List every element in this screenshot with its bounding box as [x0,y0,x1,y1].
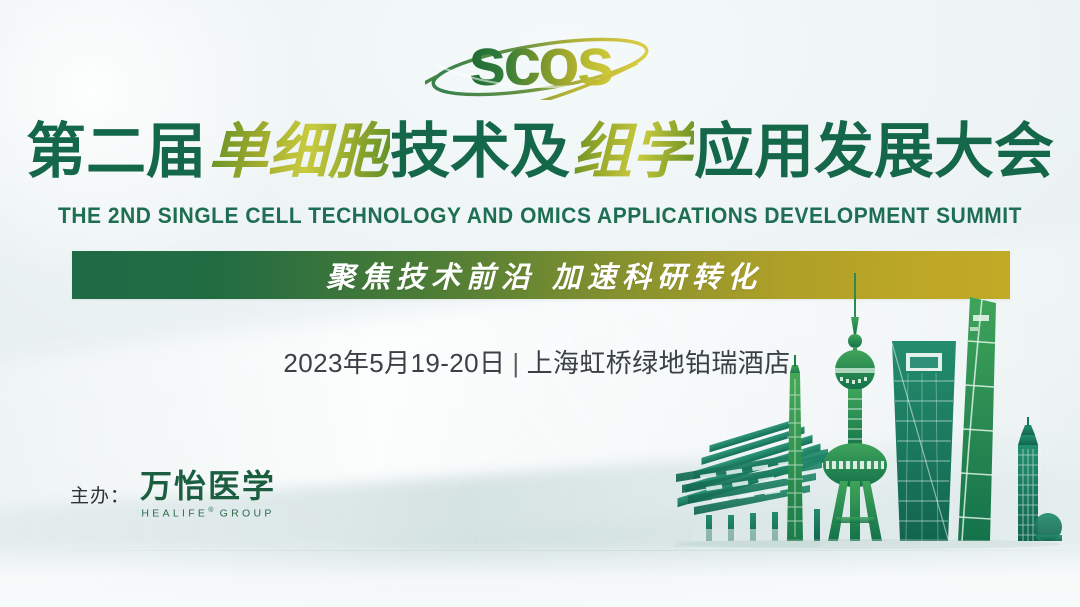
page-title: 第二届单细胞技术及组学应用发展大会 [0,122,1080,182]
title-segment-4-brush: 组学 [570,117,694,187]
shanghai-skyline-illustration [670,269,1070,569]
organizer-name-en-suffix: GROUP [220,507,275,519]
landmark-shanghai-tower [958,297,996,541]
landmark-jin-mao-tower [787,355,803,541]
brand-logo: scos [0,22,1080,105]
page-subtitle-english: THE 2ND SINGLE CELL TECHNOLOGY AND OMICS… [38,203,1042,229]
landmark-oriental-pearl-tower [823,273,887,541]
event-meta: 2023年5月19-20日|上海虹桥绿地铂瑞酒店 [0,343,1080,380]
organizer-logo: 万怡医学 HEALIFE® GROUP [140,470,276,519]
landmark-art-deco-tower [1018,417,1062,541]
landmark-china-art-museum [672,410,828,547]
title-segment-2-brush: 单细胞 [206,117,390,187]
event-date: 2023年5月19-20日 [283,348,505,378]
organizer-label: 主办： [70,481,130,508]
event-venue: 上海虹桥绿地铂瑞酒店 [527,348,791,378]
organizer-name-en: HEALIFE® GROUP [141,507,274,520]
organizer-name-cn: 万怡医学 [140,470,276,504]
event-separator: | [505,348,526,378]
svg-text:scos: scos [469,24,613,100]
background-horizon-line [0,550,1080,551]
title-segment-5: 应用发展大会 [694,118,1054,185]
trademark-symbol: ® [208,507,213,514]
slogan-banner: 聚焦技术前沿 加速科研转化 [72,251,1010,299]
conference-poster: scos 第二届单细胞技术及组学应用发展大会 THE 2ND SINGLE CE… [0,0,1080,607]
slogan-text: 聚焦技术前沿 加速科研转化 [320,254,762,296]
organizer-block: 主办： 万怡医学 HEALIFE® GROUP [70,470,276,519]
background-bottom-fade [0,540,1080,607]
title-segment-3: 技术及 [390,118,570,185]
title-segment-1: 第二届 [26,118,206,185]
organizer-name-en-main: HEALIFE [141,507,208,519]
scos-orbit-logo: scos [425,22,655,100]
